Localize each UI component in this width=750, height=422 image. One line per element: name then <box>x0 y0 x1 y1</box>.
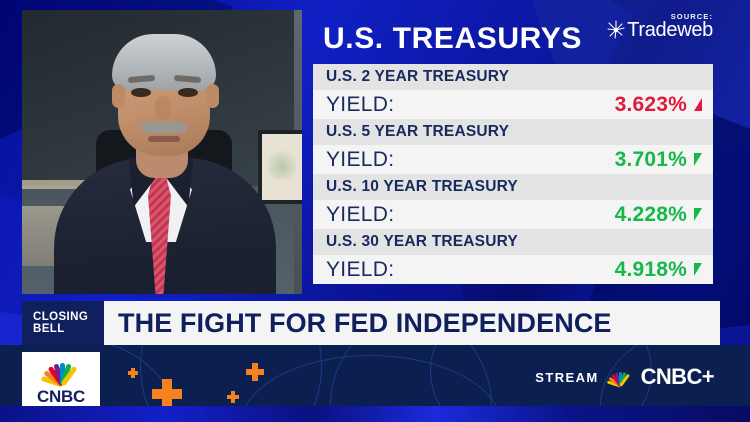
show-badge: CLOSING BELL <box>22 301 104 345</box>
yield-value-group: 4.228% <box>615 203 702 227</box>
table-row-title: U.S. 5 YEAR TREASURY <box>313 119 713 145</box>
guest-eye-left <box>131 88 151 97</box>
bottom-edge-strip <box>0 406 750 422</box>
cnbc-wordmark: CNBC <box>37 387 85 407</box>
yield-label: YIELD: <box>326 203 394 227</box>
arrow-down-icon <box>694 208 702 221</box>
show-badge-line1: CLOSING <box>33 311 104 324</box>
yield-label: YIELD: <box>326 258 394 282</box>
table-row: YIELD: 3.701% <box>313 145 713 174</box>
yield-value: 4.228% <box>615 203 687 227</box>
yield-value: 4.918% <box>615 258 687 282</box>
table-row-title: U.S. 10 YEAR TREASURY <box>313 174 713 200</box>
guest-eye-right <box>178 88 198 97</box>
guest-video-feed <box>22 10 302 294</box>
video-wall-picture <box>258 130 302 204</box>
stream-promo: STREAM CNBC+ <box>535 364 714 390</box>
table-row: YIELD: 4.918% <box>313 255 713 284</box>
peacock-icon <box>39 359 83 385</box>
yield-value-group: 3.623% <box>615 93 702 117</box>
tradeweb-logo: Tradeweb <box>606 20 713 40</box>
arrow-down-icon <box>694 263 702 276</box>
show-badge-line2: BELL <box>33 323 104 336</box>
arrow-up-icon <box>694 98 702 111</box>
yield-label: YIELD: <box>326 148 394 172</box>
peacock-icon <box>607 369 633 386</box>
yield-value: 3.623% <box>615 93 687 117</box>
table-row-title: U.S. 30 YEAR TREASURY <box>313 229 713 255</box>
guest-mustache <box>141 122 187 133</box>
plus-decoration-icon <box>128 371 138 375</box>
guest-ear-left <box>112 84 125 108</box>
tradeweb-starburst-icon <box>606 20 626 40</box>
plus-decoration-icon <box>227 395 239 399</box>
yield-value-group: 3.701% <box>615 148 702 172</box>
cnbc-logo: CNBC <box>22 352 100 414</box>
stream-label: STREAM <box>535 370 598 385</box>
arrow-down-icon <box>694 153 702 166</box>
source-attribution: SOURCE: <box>606 12 713 40</box>
panel-header: U.S. TREASURYS SOURCE: <box>313 20 713 62</box>
guest-ear-right <box>206 84 219 108</box>
yield-label: YIELD: <box>326 93 394 117</box>
broadcast-screen: U.S. TREASURYS SOURCE: <box>0 0 750 422</box>
headline: THE FIGHT FOR FED INDEPENDENCE <box>118 301 612 345</box>
guest-nose <box>155 96 171 120</box>
plus-decoration-icon <box>246 369 264 375</box>
guest-mouth <box>148 136 180 142</box>
yield-value-group: 4.918% <box>615 258 702 282</box>
tradeweb-wordmark: Tradeweb <box>627 20 713 40</box>
panel-title: U.S. TREASURYS <box>323 22 582 56</box>
table-row: YIELD: 3.623% <box>313 90 713 119</box>
treasury-yield-panel: U.S. 2 YEAR TREASURY YIELD: 3.623% U.S. … <box>313 64 713 286</box>
plus-decoration-icon <box>152 389 182 399</box>
cnbc-plus-wordmark: CNBC+ <box>641 364 714 390</box>
table-row-title: U.S. 2 YEAR TREASURY <box>313 64 713 90</box>
lower-third-banner: CLOSING BELL THE FIGHT FOR FED INDEPENDE… <box>0 301 750 345</box>
yield-value: 3.701% <box>615 148 687 172</box>
table-row: YIELD: 4.228% <box>313 200 713 229</box>
